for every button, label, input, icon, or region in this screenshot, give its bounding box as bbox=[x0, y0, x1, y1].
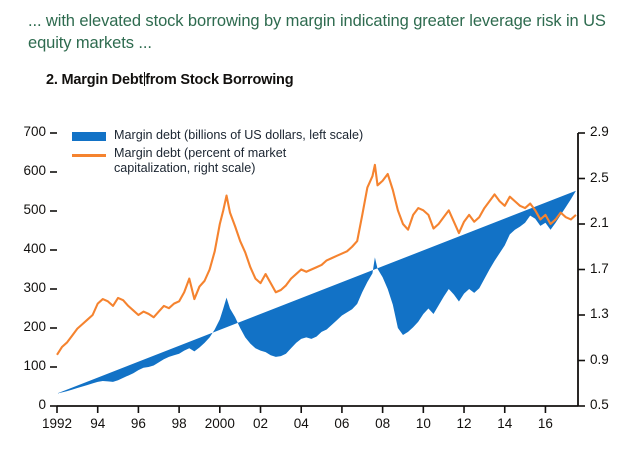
x-tick-label: 14 bbox=[497, 416, 512, 431]
x-tick-label: 2000 bbox=[205, 416, 235, 431]
y-left-tick-label: 400 bbox=[12, 241, 46, 256]
x-tick-label: 12 bbox=[457, 416, 472, 431]
x-tick-label: 04 bbox=[294, 416, 309, 431]
x-tick-label: 94 bbox=[90, 416, 105, 431]
x-tick-label: 1992 bbox=[42, 416, 72, 431]
y-right-tick-label: 2.9 bbox=[590, 124, 609, 139]
y-right-tick-label: 0.5 bbox=[590, 397, 609, 412]
x-tick-label: 96 bbox=[131, 416, 146, 431]
y-left-tick-label: 700 bbox=[12, 124, 46, 139]
y-left-tick-label: 100 bbox=[12, 358, 46, 373]
y-right-tick-label: 2.1 bbox=[590, 215, 609, 230]
x-tick-label: 06 bbox=[334, 416, 349, 431]
y-left-tick-label: 500 bbox=[12, 202, 46, 217]
x-tick-label: 08 bbox=[375, 416, 390, 431]
y-left-tick-label: 600 bbox=[12, 163, 46, 178]
y-left-tick-label: 0 bbox=[12, 397, 46, 412]
x-tick-label: 10 bbox=[416, 416, 431, 431]
y-right-tick-label: 1.7 bbox=[590, 261, 609, 276]
y-left-tick-label: 300 bbox=[12, 280, 46, 295]
y-left-tick-label: 200 bbox=[12, 319, 46, 334]
y-right-tick-label: 0.9 bbox=[590, 352, 609, 367]
x-tick-label: 98 bbox=[172, 416, 187, 431]
series-area-margin-debt-billions bbox=[57, 191, 576, 394]
x-tick-label: 16 bbox=[538, 416, 553, 431]
x-tick-label: 02 bbox=[253, 416, 268, 431]
y-right-tick-label: 2.5 bbox=[590, 170, 609, 185]
y-right-tick-label: 1.3 bbox=[590, 306, 609, 321]
figure-panel: ... with elevated stock borrowing by mar… bbox=[0, 0, 640, 449]
chart-plot-area bbox=[0, 0, 640, 449]
